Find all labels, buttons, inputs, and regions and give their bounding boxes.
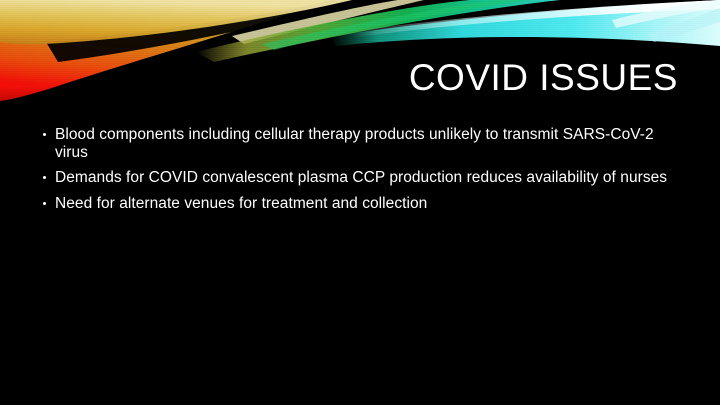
cyan-ribbon	[330, 0, 720, 46]
gold-ribbon	[0, 0, 352, 44]
bullet-text: Need for alternate venues for treatment …	[55, 195, 670, 213]
cyan-highlight	[352, 0, 720, 37]
bullet-item: Blood components including cellular ther…	[40, 126, 670, 161]
cyan-strand-a	[612, 0, 720, 28]
slide-body-list: Blood components including cellular ther…	[40, 126, 670, 220]
dark-wedge	[46, 0, 372, 62]
bullet-item: Demands for COVID convalescent plasma CC…	[40, 169, 670, 187]
bullet-text: Demands for COVID convalescent plasma CC…	[55, 169, 670, 187]
cyan-strand-b	[648, 8, 720, 42]
green-ribbon	[196, 0, 560, 62]
slide-title: COVID ISSUES	[409, 58, 678, 98]
cream-sliver	[232, 0, 424, 44]
bullet-text: Blood components including cellular ther…	[55, 126, 670, 161]
green-streak	[262, 0, 530, 50]
bullet-item: Need for alternate venues for treatment …	[40, 195, 670, 213]
slide: COVID ISSUES Blood components including …	[0, 0, 720, 405]
warm-ribbon	[0, 0, 330, 101]
